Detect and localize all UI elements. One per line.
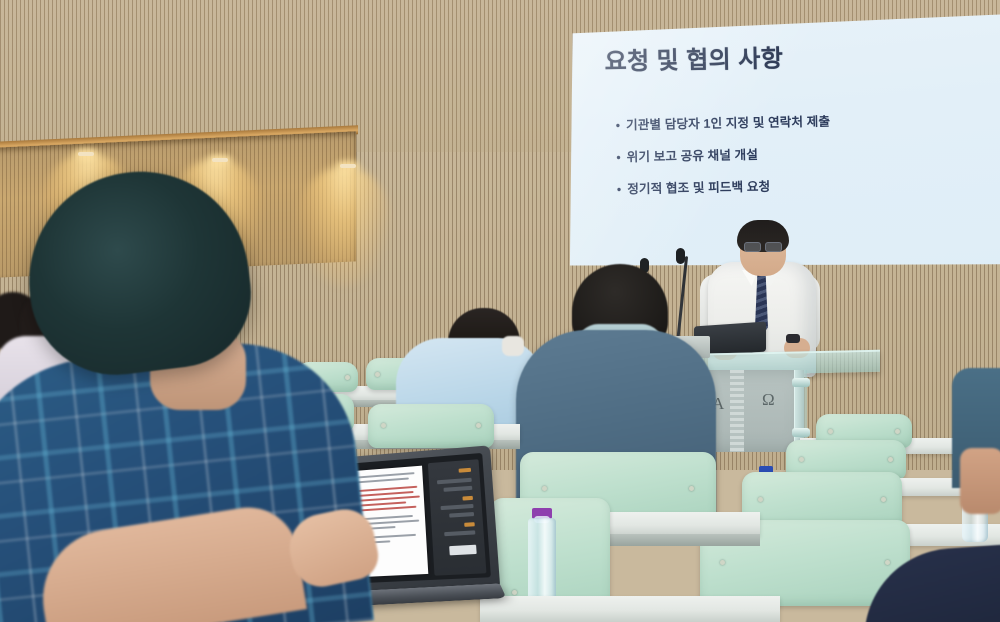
microphone-icon — [676, 248, 685, 264]
chair-middle-3 — [368, 404, 494, 448]
photograph-scene: 요청 및 협의 사항 •기관별 담당자 1인 지정 및 연락처 제출 •위기 보… — [0, 0, 1000, 622]
wall-light-3 — [340, 164, 356, 168]
slide-title: 요청 및 협의 사항 — [604, 35, 991, 77]
slide-bullet-text: 위기 보고 공유 채널 개설 — [627, 148, 759, 164]
slide-bullet-item: •위기 보고 공유 채널 개설 — [616, 140, 992, 166]
slide-bullet-text: 정기적 협조 및 피드백 요청 — [627, 180, 770, 197]
slide-bullet-item: •기관별 담당자 1인 지정 및 연락처 제출 — [616, 108, 992, 134]
wall-light-1 — [78, 152, 94, 156]
eyeglasses-icon — [744, 242, 782, 250]
slide-bullet-text: 기관별 담당자 1인 지정 및 연락처 제출 — [626, 115, 830, 133]
wristwatch — [786, 334, 800, 343]
wall-light-2 — [212, 158, 228, 162]
right-attendee-forearm — [960, 448, 1000, 514]
bullet-marker-icon: • — [617, 182, 622, 196]
podium-letter-omega: Ω — [762, 390, 775, 410]
slide-bullet-item: •정기적 협조 및 피드백 요청 — [617, 172, 993, 198]
editor-side-panel[interactable] — [428, 459, 487, 575]
bullet-marker-icon: • — [616, 150, 621, 164]
slide-bullet-list: •기관별 담당자 1인 지정 및 연락처 제출 •위기 보고 공유 채널 개설 … — [616, 108, 993, 198]
wall-light-glow-3 — [296, 166, 392, 286]
podium-decor-strip — [730, 370, 744, 452]
bullet-marker-icon: • — [616, 118, 621, 132]
desk-front-nearest — [480, 596, 780, 622]
face-mask — [502, 336, 524, 356]
